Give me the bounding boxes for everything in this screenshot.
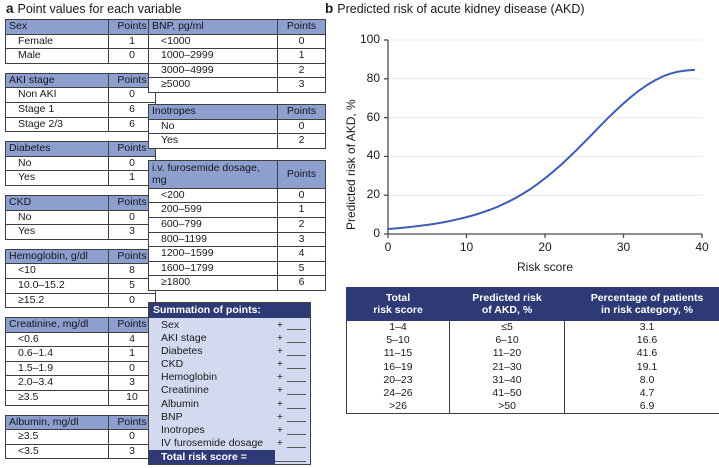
summation-item-label: Sex — [161, 319, 273, 331]
point-table-bnp-label: <1000 — [149, 34, 278, 49]
table-row: Yes2 — [149, 134, 326, 149]
risk-category-summary-table: Totalrisk scorePredicted riskof AKD, %Pe… — [346, 287, 719, 414]
table-row: 20–2331–408.0 — [347, 374, 719, 387]
point-table-creatinine: Creatinine, mg/dlPoints<0.640.6–1.411.5–… — [5, 317, 156, 406]
table-row: <2000 — [149, 188, 326, 203]
point-table-bnp-label: 3000–4999 — [149, 63, 278, 78]
plus-sign-icon: + — [273, 437, 287, 449]
point-table-hemoglobin-label: <10 — [6, 264, 109, 279]
panel-b-heading: Predicted risk of acute kidney disease (… — [337, 3, 584, 17]
point-table-inotropes-header: Inotropes — [149, 104, 278, 119]
risk-table-cell: 11–15 — [347, 347, 450, 360]
point-table-furosemide-points: 4 — [278, 247, 326, 262]
summation-row: Creatinine+ — [149, 384, 310, 397]
summation-value-blank[interactable] — [287, 425, 306, 435]
risk-table-cell: 41–50 — [450, 387, 565, 400]
table-row: No0 — [6, 156, 156, 171]
point-table-furosemide-points: 1 — [278, 203, 326, 218]
summation-row: IV furosemide dosage+ — [149, 437, 310, 450]
x-axis-title: Risk score — [388, 260, 702, 274]
summation-row: Diabetes+ — [149, 344, 310, 357]
table-row: ≥18006 — [149, 276, 326, 291]
point-table-bnp-label: ≥5000 — [149, 78, 278, 93]
x-axis-tick-label: 40 — [689, 240, 715, 254]
point-table-albumin-label: ≥3.5 — [6, 430, 109, 445]
point-table-bnp-points-header: Points — [278, 20, 326, 35]
table-row: 11–1511–2041.6 — [347, 347, 719, 360]
table-row: Non AKI0 — [6, 88, 156, 103]
point-table-bnp-points: 2 — [278, 63, 326, 78]
point-table-creatinine-label: 0.6–1.4 — [6, 347, 109, 362]
table-row: <10000 — [149, 34, 326, 49]
risk-table-cell: 24–26 — [347, 387, 450, 400]
table-row: 1000–29991 — [149, 49, 326, 64]
table-row: 5–106–1016.6 — [347, 334, 719, 347]
akd-risk-line-chart: 020406080100010203040Risk scorePredicted… — [330, 20, 715, 282]
point-table-creatinine-label: <0.6 — [6, 332, 109, 347]
table-row: 1.5–1.90 — [6, 361, 156, 376]
point-table-furosemide-label: <200 — [149, 188, 278, 203]
point-table-hemoglobin: Hemoglobin, g/dlPoints<10810.0–15.25≥15.… — [5, 249, 156, 308]
point-table-creatinine-label: 2.0–3.4 — [6, 376, 109, 391]
plus-sign-icon: + — [273, 371, 287, 383]
point-table-ckd-label: Yes — [6, 225, 109, 240]
point-tables-column-middle: BNP, pg/mlPoints<100001000–299913000–499… — [148, 19, 311, 465]
panel-a-letter: a — [6, 2, 14, 16]
summation-value-blank[interactable] — [287, 359, 306, 369]
point-table-sex-label: Male — [6, 49, 109, 64]
summation-of-points-box: Summation of points:Sex+AKI stage+Diabet… — [148, 302, 311, 465]
table-row: No0 — [149, 119, 326, 134]
point-table-aki-stage-header: AKI stage — [6, 73, 109, 88]
point-table-aki-stage-label: Non AKI — [6, 88, 109, 103]
risk-table-cell: 8.0 — [565, 374, 719, 387]
summation-row: Inotropes+ — [149, 423, 310, 436]
table-row: 2.0–3.43 — [6, 376, 156, 391]
summation-row: AKI stage+ — [149, 331, 310, 344]
summation-row: Sex+ — [149, 318, 310, 331]
table-row: ≥3.50 — [6, 430, 156, 445]
table-row: Yes1 — [6, 171, 156, 186]
risk-table-cell: 16–19 — [347, 361, 450, 374]
table-row: <0.64 — [6, 332, 156, 347]
table-row: Stage 16 — [6, 102, 156, 117]
risk-table-cell: ≤5 — [450, 321, 565, 335]
summation-value-blank[interactable] — [287, 399, 306, 409]
risk-table-cell: 5–10 — [347, 334, 450, 347]
plus-sign-icon: + — [273, 424, 287, 436]
x-axis-tick-label: 10 — [454, 240, 480, 254]
x-axis-tick-label: 0 — [375, 240, 401, 254]
table-row: No0 — [6, 210, 156, 225]
total-risk-score-blank[interactable] — [275, 452, 306, 462]
point-table-furosemide-label: 800–1199 — [149, 232, 278, 247]
table-row: ≥15.20 — [6, 293, 156, 308]
summation-value-blank[interactable] — [287, 320, 306, 330]
table-row: 0.6–1.41 — [6, 347, 156, 362]
point-table-albumin-header: Albumin, mg/dl — [6, 415, 109, 430]
plus-sign-icon: + — [273, 398, 287, 410]
summation-item-label: CKD — [161, 358, 273, 370]
risk-table-cell: 1–4 — [347, 321, 450, 335]
summation-value-blank[interactable] — [287, 372, 306, 382]
table-row: 800–11993 — [149, 232, 326, 247]
risk-table-cell: 11–20 — [450, 347, 565, 360]
summation-item-label: AKI stage — [161, 332, 273, 344]
point-table-aki-stage-label: Stage 1 — [6, 102, 109, 117]
summation-value-blank[interactable] — [287, 438, 306, 448]
table-row: 16–1921–3019.1 — [347, 361, 719, 374]
plus-sign-icon: + — [273, 384, 287, 396]
risk-curve-line — [388, 70, 694, 229]
table-row: 1200–15994 — [149, 247, 326, 262]
point-table-inotropes-points-header: Points — [278, 104, 326, 119]
risk-table-cell: 31–40 — [450, 374, 565, 387]
risk-table-cell: 41.6 — [565, 347, 719, 360]
summation-value-blank[interactable] — [287, 346, 306, 356]
point-table-creatinine-header: Creatinine, mg/dl — [6, 318, 109, 333]
risk-table-header-1: Predicted riskof AKD, % — [450, 288, 565, 321]
point-table-furosemide-label: 1200–1599 — [149, 247, 278, 262]
risk-table-header-2-line1: in risk category, % — [567, 304, 719, 316]
risk-table-cell: >50 — [450, 400, 565, 414]
table-row: 3000–49992 — [149, 63, 326, 78]
table-row: Female1 — [6, 34, 156, 49]
summation-row: Albumin+ — [149, 397, 310, 410]
point-table-hemoglobin-label: 10.0–15.2 — [6, 278, 109, 293]
risk-table-header-1-line1: of AKD, % — [452, 304, 562, 316]
summation-item-label: Hemoglobin — [161, 371, 273, 383]
point-table-furosemide-label: 200–599 — [149, 203, 278, 218]
risk-table-header-2: Percentage of patientsin risk category, … — [565, 288, 719, 321]
panel-a-title: a Point values for each variable — [6, 2, 182, 17]
plus-sign-icon: + — [273, 345, 287, 357]
table-row: >26>506.9 — [347, 400, 719, 414]
summation-item-label: Inotropes — [161, 424, 273, 436]
risk-table-header-0: Totalrisk score — [347, 288, 450, 321]
y-axis-tick-label: 100 — [354, 32, 380, 46]
risk-table-header-0-line0: Total — [349, 292, 447, 304]
point-table-furosemide-label: 1600–1799 — [149, 261, 278, 276]
point-table-diabetes-header: Diabetes — [6, 142, 109, 157]
point-table-furosemide-points: 3 — [278, 232, 326, 247]
point-table-ckd-label: No — [6, 210, 109, 225]
point-table-bnp-header: BNP, pg/ml — [149, 20, 278, 35]
point-table-furosemide-points: 6 — [278, 276, 326, 291]
risk-table-cell: 3.1 — [565, 321, 719, 335]
point-table-inotropes: InotropesPointsNo0Yes2 — [148, 104, 326, 149]
panel-a-heading: Point values for each variable — [18, 3, 182, 17]
risk-table-header-row: Totalrisk scorePredicted riskof AKD, %Pe… — [347, 288, 719, 321]
point-table-hemoglobin-label: ≥15.2 — [6, 293, 109, 308]
point-table-furosemide-label: 600–799 — [149, 217, 278, 232]
point-table-furosemide-label: ≥1800 — [149, 276, 278, 291]
risk-table-header-1-line0: Predicted risk — [452, 292, 562, 304]
summation-value-blank[interactable] — [287, 333, 306, 343]
point-table-sex: SexPointsFemale1Male0 — [5, 19, 156, 64]
table-row: Male0 — [6, 49, 156, 64]
table-row: 200–5991 — [149, 203, 326, 218]
summation-row: BNP+ — [149, 410, 310, 423]
table-row: 24–2641–504.7 — [347, 387, 719, 400]
table-row: 10.0–15.25 — [6, 278, 156, 293]
point-table-inotropes-points: 2 — [278, 134, 326, 149]
total-risk-score-row: Total risk score = — [149, 450, 310, 464]
point-table-hemoglobin-header: Hemoglobin, g/dl — [6, 249, 109, 264]
plus-sign-icon: + — [273, 319, 287, 331]
point-table-furosemide-header: i.v. furosemide dosage, mg — [149, 160, 278, 188]
point-table-aki-stage: AKI stagePointsNon AKI0Stage 16Stage 2/3… — [5, 73, 156, 132]
point-table-diabetes-label: No — [6, 156, 109, 171]
risk-table-header-0-line1: risk score — [349, 304, 447, 316]
risk-table-cell: 21–30 — [450, 361, 565, 374]
panel-b-title: b Predicted risk of acute kidney disease… — [325, 2, 585, 17]
point-table-furosemide-points-header: Points — [278, 160, 326, 188]
point-table-bnp-label: 1000–2999 — [149, 49, 278, 64]
point-table-inotropes-label: Yes — [149, 134, 278, 149]
point-table-ckd: CKDPointsNo0Yes3 — [5, 195, 156, 240]
summation-row: CKD+ — [149, 357, 310, 370]
summation-item-label: BNP — [161, 411, 273, 423]
point-table-bnp-points: 3 — [278, 78, 326, 93]
x-axis-tick-label: 30 — [611, 240, 637, 254]
point-table-sex-header: Sex — [6, 20, 109, 35]
point-table-inotropes-points: 0 — [278, 119, 326, 134]
point-table-inotropes-label: No — [149, 119, 278, 134]
summation-item-label: Creatinine — [161, 384, 273, 396]
risk-table-header-2-line0: Percentage of patients — [567, 292, 719, 304]
point-tables-column-left: SexPointsFemale1Male0AKI stagePointsNon … — [5, 19, 141, 468]
table-row: <108 — [6, 264, 156, 279]
table-row: 1–4≤53.1 — [347, 321, 719, 335]
table-row: 600–7992 — [149, 217, 326, 232]
plus-sign-icon: + — [273, 332, 287, 344]
point-table-diabetes-label: Yes — [6, 171, 109, 186]
point-table-aki-stage-label: Stage 2/3 — [6, 117, 109, 132]
point-table-sex-label: Female — [6, 34, 109, 49]
table-row: ≥50003 — [149, 78, 326, 93]
point-table-albumin-label: <3.5 — [6, 444, 109, 459]
point-table-ckd-header: CKD — [6, 195, 109, 210]
risk-table-cell: 6.9 — [565, 400, 719, 414]
x-axis-tick-label: 20 — [532, 240, 558, 254]
point-table-bnp: BNP, pg/mlPoints<100001000–299913000–499… — [148, 19, 326, 93]
table-row: Yes3 — [6, 225, 156, 240]
point-table-furosemide: i.v. furosemide dosage, mgPoints<2000200… — [148, 160, 326, 291]
plus-sign-icon: + — [273, 358, 287, 370]
plus-sign-icon: + — [273, 411, 287, 423]
point-table-bnp-points: 1 — [278, 49, 326, 64]
panel-b-letter: b — [325, 2, 333, 16]
point-table-diabetes: DiabetesPointsNo0Yes1 — [5, 141, 156, 186]
risk-table-cell: 19.1 — [565, 361, 719, 374]
point-table-furosemide-points: 5 — [278, 261, 326, 276]
risk-category-table: Totalrisk scorePredicted riskof AKD, %Pe… — [346, 287, 714, 414]
risk-table-cell: 6–10 — [450, 334, 565, 347]
summation-header: Summation of points: — [149, 303, 310, 318]
y-axis-title: Predicted risk of AKD, % — [344, 99, 358, 230]
table-row: Stage 2/36 — [6, 117, 156, 132]
summation-item-label: IV furosemide dosage — [161, 437, 273, 449]
summation-value-blank[interactable] — [287, 412, 306, 422]
summation-value-blank[interactable] — [287, 385, 306, 395]
table-row: ≥3.510 — [6, 391, 156, 406]
risk-table-cell: 4.7 — [565, 387, 719, 400]
risk-table-cell: >26 — [347, 400, 450, 414]
point-table-bnp-points: 0 — [278, 34, 326, 49]
point-table-creatinine-label: 1.5–1.9 — [6, 361, 109, 376]
summation-item-label: Diabetes — [161, 345, 273, 357]
y-axis-tick-label: 80 — [354, 71, 380, 85]
risk-table-cell: 16.6 — [565, 334, 719, 347]
point-table-creatinine-label: ≥3.5 — [6, 391, 109, 406]
table-row: <3.53 — [6, 444, 156, 459]
point-table-furosemide-points: 2 — [278, 217, 326, 232]
summation-row: Hemoglobin+ — [149, 371, 310, 384]
risk-table-cell: 20–23 — [347, 374, 450, 387]
table-row: 1600–17995 — [149, 261, 326, 276]
total-risk-score-label: Total risk score = — [149, 450, 275, 464]
summation-item-label: Albumin — [161, 398, 273, 410]
point-table-furosemide-points: 0 — [278, 188, 326, 203]
